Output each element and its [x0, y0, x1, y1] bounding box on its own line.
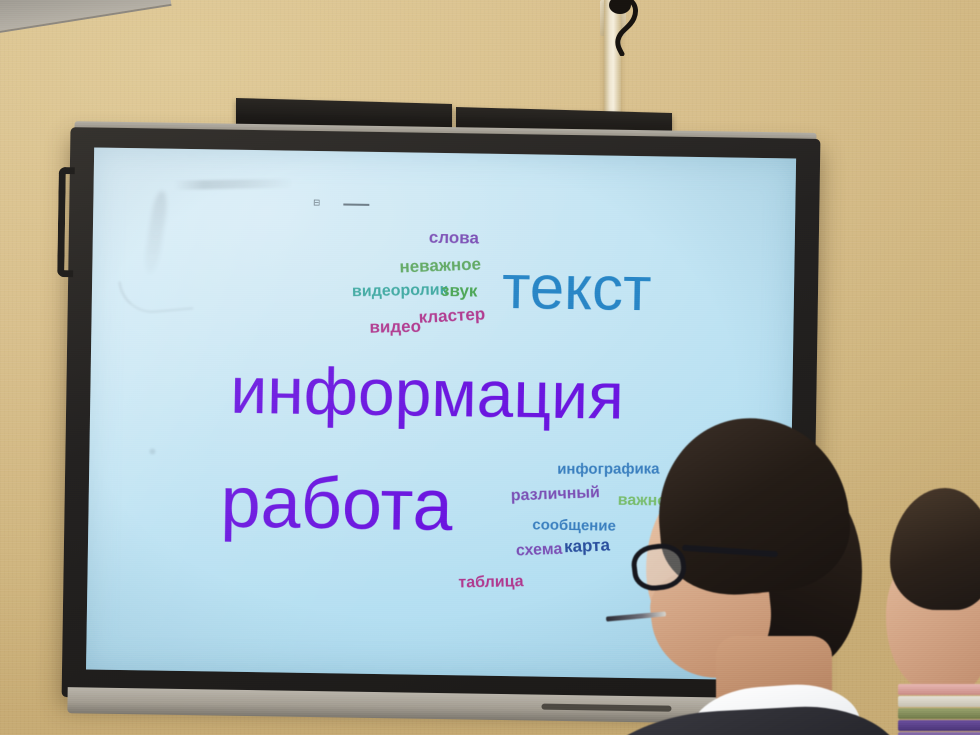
cloud-word: работа: [220, 467, 453, 543]
book: [898, 684, 980, 695]
student-foreground: [612, 418, 882, 735]
cloud-word: таблица: [458, 574, 523, 591]
cloud-word: текст: [502, 257, 652, 321]
glasses-lens: [629, 541, 688, 593]
student-right-edge: [884, 488, 980, 735]
cloud-word: слова: [429, 229, 479, 247]
panel-side-handle[interactable]: [57, 167, 75, 277]
cloud-word: видео: [369, 318, 421, 336]
cloud-word: информация: [230, 357, 625, 429]
classroom-scene: ⊟ текстинформацияработаслованеважноевиде…: [0, 0, 980, 735]
glasses-temple: [682, 545, 778, 558]
cloud-word: неважное: [399, 255, 481, 275]
cloud-word: схема: [516, 542, 563, 560]
cloud-word: кластер: [418, 305, 485, 326]
cloud-word: различный: [511, 485, 601, 504]
book: [898, 696, 980, 707]
hair: [890, 488, 980, 610]
stacked-books: [898, 684, 980, 735]
glasses: [632, 538, 772, 594]
cloud-word: сообщение: [532, 517, 616, 533]
book: [898, 708, 980, 719]
power-cable: [598, 0, 644, 56]
cloud-word: карта: [564, 536, 610, 555]
cloud-word: видеоролик: [352, 282, 448, 300]
cloud-word: звук: [441, 282, 478, 300]
book: [898, 720, 980, 731]
